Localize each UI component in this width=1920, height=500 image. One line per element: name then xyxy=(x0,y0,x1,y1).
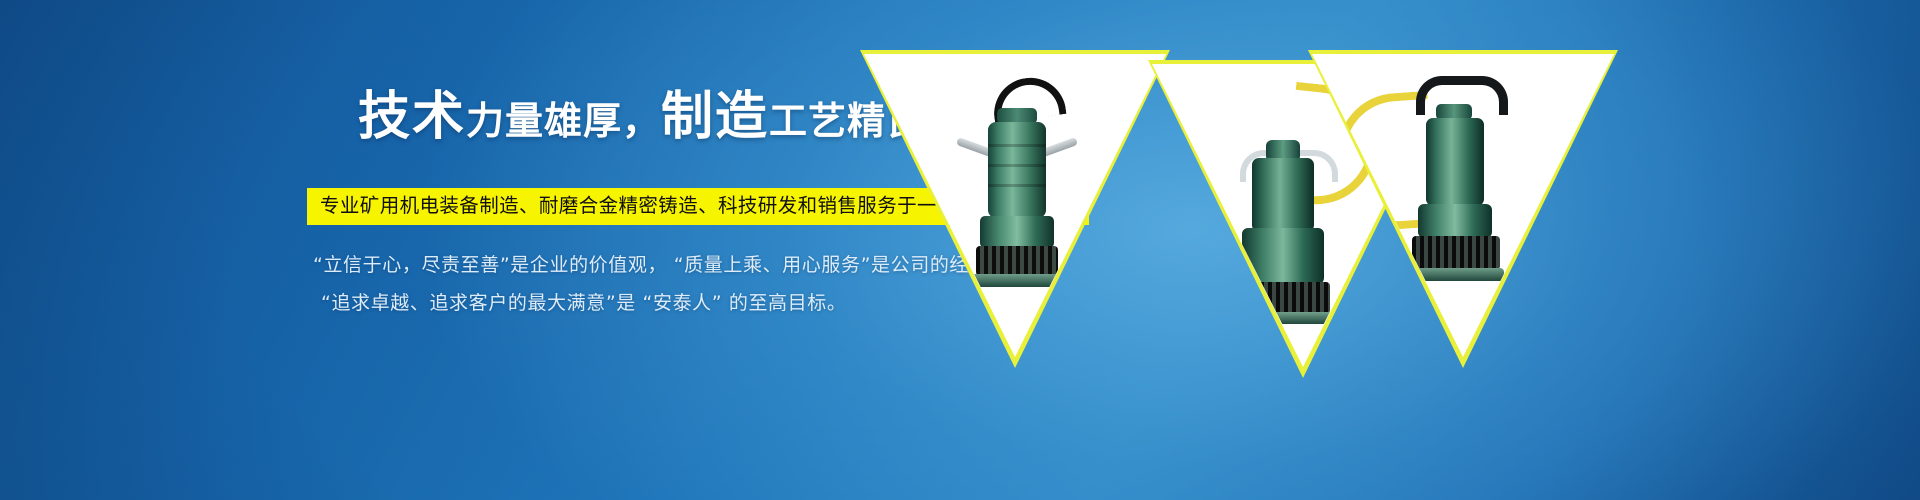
headline-part-2: 力量雄厚， xyxy=(466,99,661,143)
promo-banner: 技术力量雄厚，制造工艺精良 专业矿用机电装备制造、耐磨合金精密铸造、科技研发和销… xyxy=(0,0,1920,500)
banner-text-block: 技术力量雄厚，制造工艺精良 专业矿用机电装备制造、耐磨合金精密铸造、科技研发和销… xyxy=(303,84,923,150)
headline-part-3: 制造 xyxy=(661,87,769,147)
headline: 技术力量雄厚，制造工艺精良 xyxy=(358,84,923,150)
submersible-pump-with-handle-image xyxy=(1308,50,1618,368)
product-triangle-3 xyxy=(1308,50,1618,368)
product-triangle-1 xyxy=(860,50,1170,368)
product-triangle-gallery xyxy=(860,50,1590,380)
submersible-pump-vertical-image xyxy=(860,50,1170,368)
headline-part-1: 技术 xyxy=(358,87,466,147)
